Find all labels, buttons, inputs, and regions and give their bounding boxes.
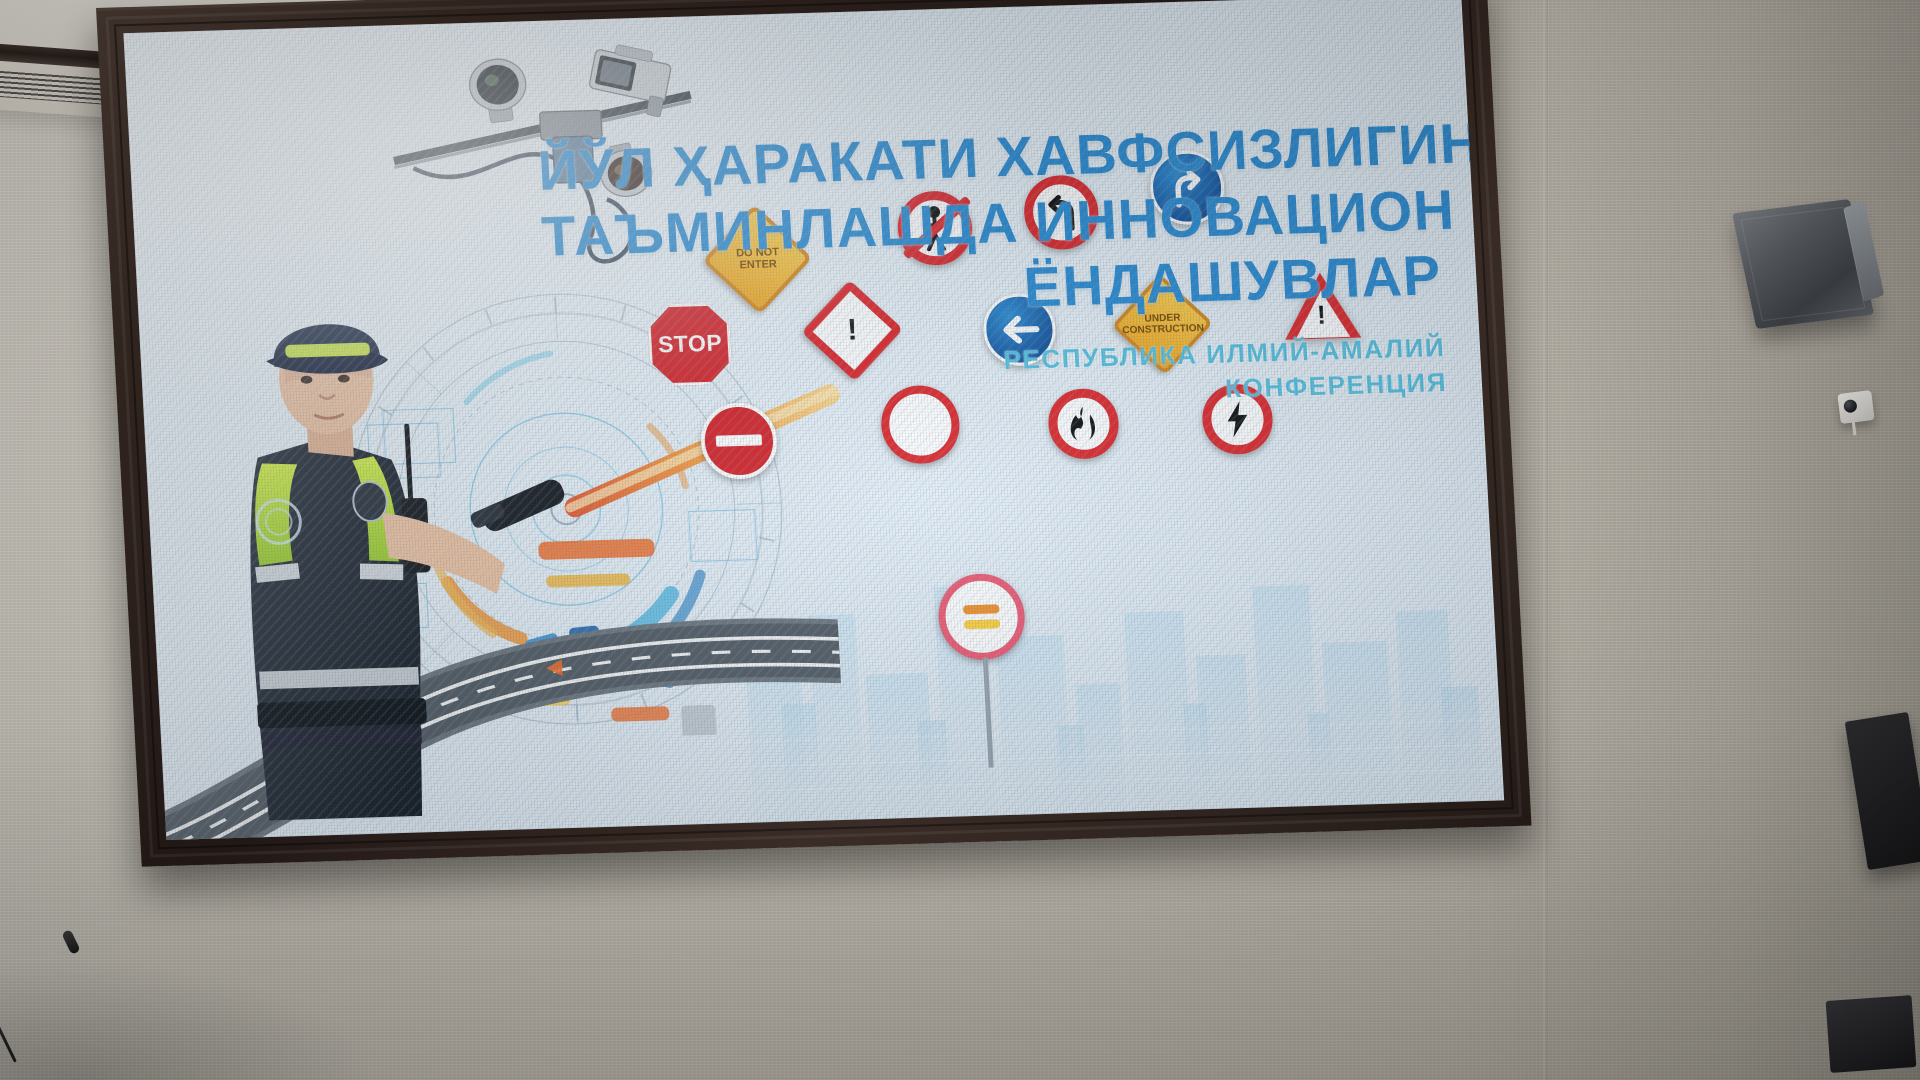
wall-security-camera (1837, 390, 1874, 424)
wall-monitor (1826, 995, 1917, 1073)
screen-wooden-frame: DO NOTENTER (96, 0, 1532, 867)
projection-screen-assembly: DO NOTENTER (96, 0, 1532, 867)
projection-screen: DO NOTENTER (123, 0, 1504, 840)
conference-room-scene: DO NOTENTER (0, 0, 1920, 1080)
no-entry-bar (716, 435, 763, 447)
signpost-indicator-sign (936, 572, 1027, 660)
slide-title-block: ЙЎЛ ҲАРАКАТИ ХАВФСИЗЛИГИНИ ТАЪМИНЛАШДА И… (536, 112, 1448, 426)
wall-speaker (1732, 199, 1874, 329)
presentation-slide: DO NOTENTER (123, 0, 1504, 840)
floor-shadow (0, 960, 380, 1080)
slide-subtitle-block: РЕСПУБЛИКА ИЛМИЙ-АМАЛИЙ КОНФЕРЕНЦИЯ (548, 330, 1448, 426)
